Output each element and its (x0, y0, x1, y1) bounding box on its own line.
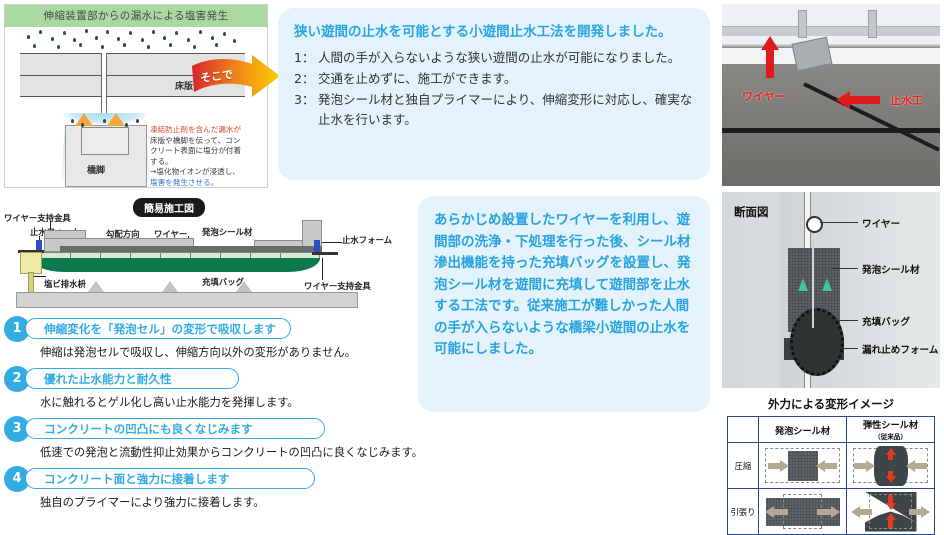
leader-section-bag (836, 320, 858, 321)
intro-item: 2： 交通を止めずに、施工ができます。 (294, 69, 694, 89)
photo-sky-region (722, 4, 940, 44)
transition-arrow: そこで (190, 52, 282, 106)
cell-elastic-compression (847, 443, 935, 489)
wire-arrow-head-icon (761, 36, 779, 50)
intro-item-text: 人間の手が入らないような狭い遊間の止水が可能になりました。 (318, 48, 694, 68)
intro-item-number: 1： (294, 48, 318, 68)
wire-arrow-stem (766, 50, 774, 78)
tension-arrow-right-stem (817, 509, 831, 515)
leader-section-foam (842, 348, 858, 349)
expansion-joint-gap (101, 53, 107, 119)
compression-arrow-right-stem (825, 463, 837, 469)
compression-arrow-left-stem (854, 463, 866, 469)
leader-drain (32, 276, 46, 277)
section-label-bag: 充填バッグ (862, 314, 910, 328)
drain-box-shape (20, 252, 42, 274)
column-header-foam: 発泡シール材 (759, 417, 847, 443)
table-row: 圧縮 (728, 443, 935, 489)
feature-title: 優れた止水能力と耐久性 (25, 368, 239, 389)
row-header-tension: 引張り (728, 489, 759, 535)
pier-inner-shape (81, 127, 129, 155)
leader-section-seal (832, 268, 858, 269)
intro-item-text: 交通を止めずに、施工ができます。 (318, 69, 694, 89)
cell-elastic-tension (847, 489, 935, 535)
photo-post-a (798, 10, 807, 38)
intro-item-number: 3： (294, 90, 318, 130)
damage-note-line5: →塩化物イオンが浸透し、 (150, 167, 240, 176)
leader-section-wire (820, 222, 858, 223)
label-seal: 発泡シール材 (202, 226, 252, 238)
tension-arrow-right-stem (909, 509, 921, 515)
damage-note-line4: する。 (150, 157, 173, 166)
deformation-table-title: 外力による変形イメージ (722, 396, 940, 412)
tension-arrow-left-stem (774, 509, 788, 515)
necking-arrow-up-stem (888, 520, 893, 528)
table-row: 引張り (728, 489, 935, 535)
tension-arrow-left-icon (765, 506, 774, 518)
wire-bracket-right-shape (312, 252, 338, 255)
foam-material-block (788, 451, 818, 481)
flow-arrow-left-icon (798, 278, 808, 291)
compression-arrow-right-icon (816, 460, 825, 472)
list-item: 3 コンクリートの凹凸にも良くなじみます 低速での発泡と流動性抑止効果からコンク… (4, 416, 414, 466)
site-photo-top: ワイヤー 止水工 (722, 4, 940, 186)
column-header-elastic: 弾性シール材（従来品） (847, 417, 935, 443)
damage-note-line6: 塩害を発生させる。 (150, 178, 218, 187)
feature-description: 水に触れるとゲル化し高い止水能力を発揮します。 (40, 394, 299, 410)
bulge-arrow-down-icon (886, 476, 896, 483)
deformation-table-panel: 外力による変形イメージ 発泡シール材 弾性シール材（従来品） 圧縮 (722, 396, 940, 530)
label-bracket-left: ワイヤー支持金具 (4, 212, 71, 224)
label-foam-right: 止水フォーム (342, 234, 392, 246)
tension-arrow-left-icon (851, 506, 860, 518)
photo-railing (722, 26, 940, 36)
photo-post-b (868, 10, 877, 38)
list-item: 4 コンクリート面と強力に接着します 独自のプライマーにより強力に接着します。 (4, 466, 414, 516)
flow-arrow-right-icon (822, 278, 832, 291)
method-description-panel: あらかじめ設置したワイヤーを利用し、遊間部の洗浄・下処理を行った後、シール材滲出… (418, 196, 710, 412)
feature-description: 伸縮は発泡セルで吸収し、伸縮方向以外の変形がありません。 (40, 344, 356, 360)
table-header-row: 発泡シール材 弾性シール材（従来品） (728, 417, 935, 443)
section-view-panel: 断面図 ワイヤー 発泡シール材 充填バッグ 漏れ止めフォーム (722, 192, 940, 388)
cell-foam-tension (759, 489, 847, 535)
feature-description: 低速での発泡と流動性抑止効果からコンクリートの凹凸に良くなじみます。 (40, 444, 423, 460)
damage-panel-header: 伸縮装置部からの漏水による塩害発生 (5, 5, 267, 27)
photo-label-wire: ワイヤー (742, 88, 786, 104)
feature-title: 伸縮変化を「発泡セル」の変形で吸収します (25, 318, 291, 339)
intro-item: 1： 人間の手が入らないような狭い遊間の止水が可能になりました。 (294, 48, 694, 68)
damage-note-line1: 凍結防止剤を含んだ漏水が (150, 125, 241, 134)
work-arrow-stem (850, 96, 880, 104)
bulge-arrow-up-icon (886, 448, 896, 455)
compression-arrow-left-icon (866, 460, 875, 472)
label-bracket-right: ワイヤー支持金具 (304, 280, 371, 292)
bearing-right-icon (107, 113, 125, 126)
section-label-foam: 漏れ止めフォーム (862, 342, 938, 356)
work-arrow-head-icon (836, 91, 850, 109)
compression-arrow-left-icon (780, 460, 789, 472)
list-item: 2 優れた止水能力と耐久性 水に触れるとゲル化し高い止水能力を発揮します。 (4, 366, 414, 416)
section-wire-line (812, 228, 814, 328)
features-list: 1 伸縮変化を「発泡セル」の変形で吸収します 伸縮は発泡セルで吸収し、伸縮方向以… (4, 316, 414, 530)
photo-cable-horizontal (722, 128, 940, 133)
bearing-left-icon (75, 113, 93, 126)
photo-label-work: 止水工 (890, 92, 923, 108)
pier-label: 橋脚 (87, 163, 105, 176)
necking-arrow-down-icon (886, 503, 896, 510)
tension-arrow-left-stem (860, 509, 872, 515)
deformation-table: 発泡シール材 弾性シール材（従来品） 圧縮 (727, 416, 935, 535)
tension-arrow-right-icon (831, 506, 840, 518)
feature-title: コンクリート面と強力に接着します (25, 468, 315, 489)
intro-title: 狭い遊間の止水を可能とする小遊間止水工法を開発しました。 (294, 22, 694, 42)
section-label-seal: 発泡シール材 (862, 262, 920, 276)
feature-title: コンクリートの凹凸にも良くなじみます (25, 418, 325, 439)
construction-diagram-panel: 簡易施工図 ワイヤー支持金具 止水フォーム 勾配方向 ワイヤー 発泡シール材 止… (2, 196, 414, 314)
intro-item-number: 2： (294, 69, 318, 89)
compression-arrow-right-stem (915, 463, 927, 469)
damage-note-line3: クリート表面に塩分が付着 (150, 146, 241, 155)
damage-illustration: 床版 橋脚 凍結防止剤を含んだ漏水が 床版や橋脚を伝って、コン クリート表面に塩… (5, 27, 267, 187)
necking-arrow-down-stem (888, 495, 893, 503)
intro-item: 3： 発泡シール材と独自プライマーにより、伸縮変形に対応し、確実な止水を行います… (294, 90, 694, 130)
photo-bridge-underside (722, 64, 940, 186)
feature-description: 独自のプライマーにより強力に接着します。 (40, 494, 265, 510)
intro-item-text: 発泡シール材と独自プライマーにより、伸縮変形に対応し、確実な止水を行います。 (318, 90, 694, 130)
filling-bag-shape (32, 258, 320, 272)
construction-diagram-badge: 簡易施工図 (133, 198, 205, 217)
section-filling-bag (790, 308, 844, 376)
section-label-wire: ワイヤー (862, 216, 900, 230)
compression-arrow-left-stem (768, 463, 780, 469)
damage-note-text: 凍結防止剤を含んだ漏水が 床版や橋脚を伝って、コン クリート表面に塩分が付着 す… (150, 125, 262, 188)
leader-bracket-right (322, 258, 323, 280)
column-header-blank (728, 417, 759, 443)
ground-base (16, 292, 358, 308)
label-drain: 塩ビ排水枡 (44, 278, 86, 290)
row-header-compression: 圧縮 (728, 443, 759, 489)
section-view-title: 断面図 (734, 204, 769, 220)
intro-callout-panel: 狭い遊間の止水を可能とする小遊間止水工法を開発しました。 1： 人間の手が入らな… (278, 8, 710, 180)
compression-arrow-right-icon (906, 460, 915, 472)
damage-note-line2: 床版や橋脚を伝って、コン (150, 136, 240, 145)
section-wire-dot-icon (806, 216, 823, 233)
tension-arrow-right-icon (921, 506, 930, 518)
cell-foam-compression (759, 443, 847, 489)
necking-arrow-up-icon (886, 513, 896, 520)
list-item: 1 伸縮変化を「発泡セル」の変形で吸収します 伸縮は発泡セルで吸収し、伸縮方向以… (4, 316, 414, 366)
